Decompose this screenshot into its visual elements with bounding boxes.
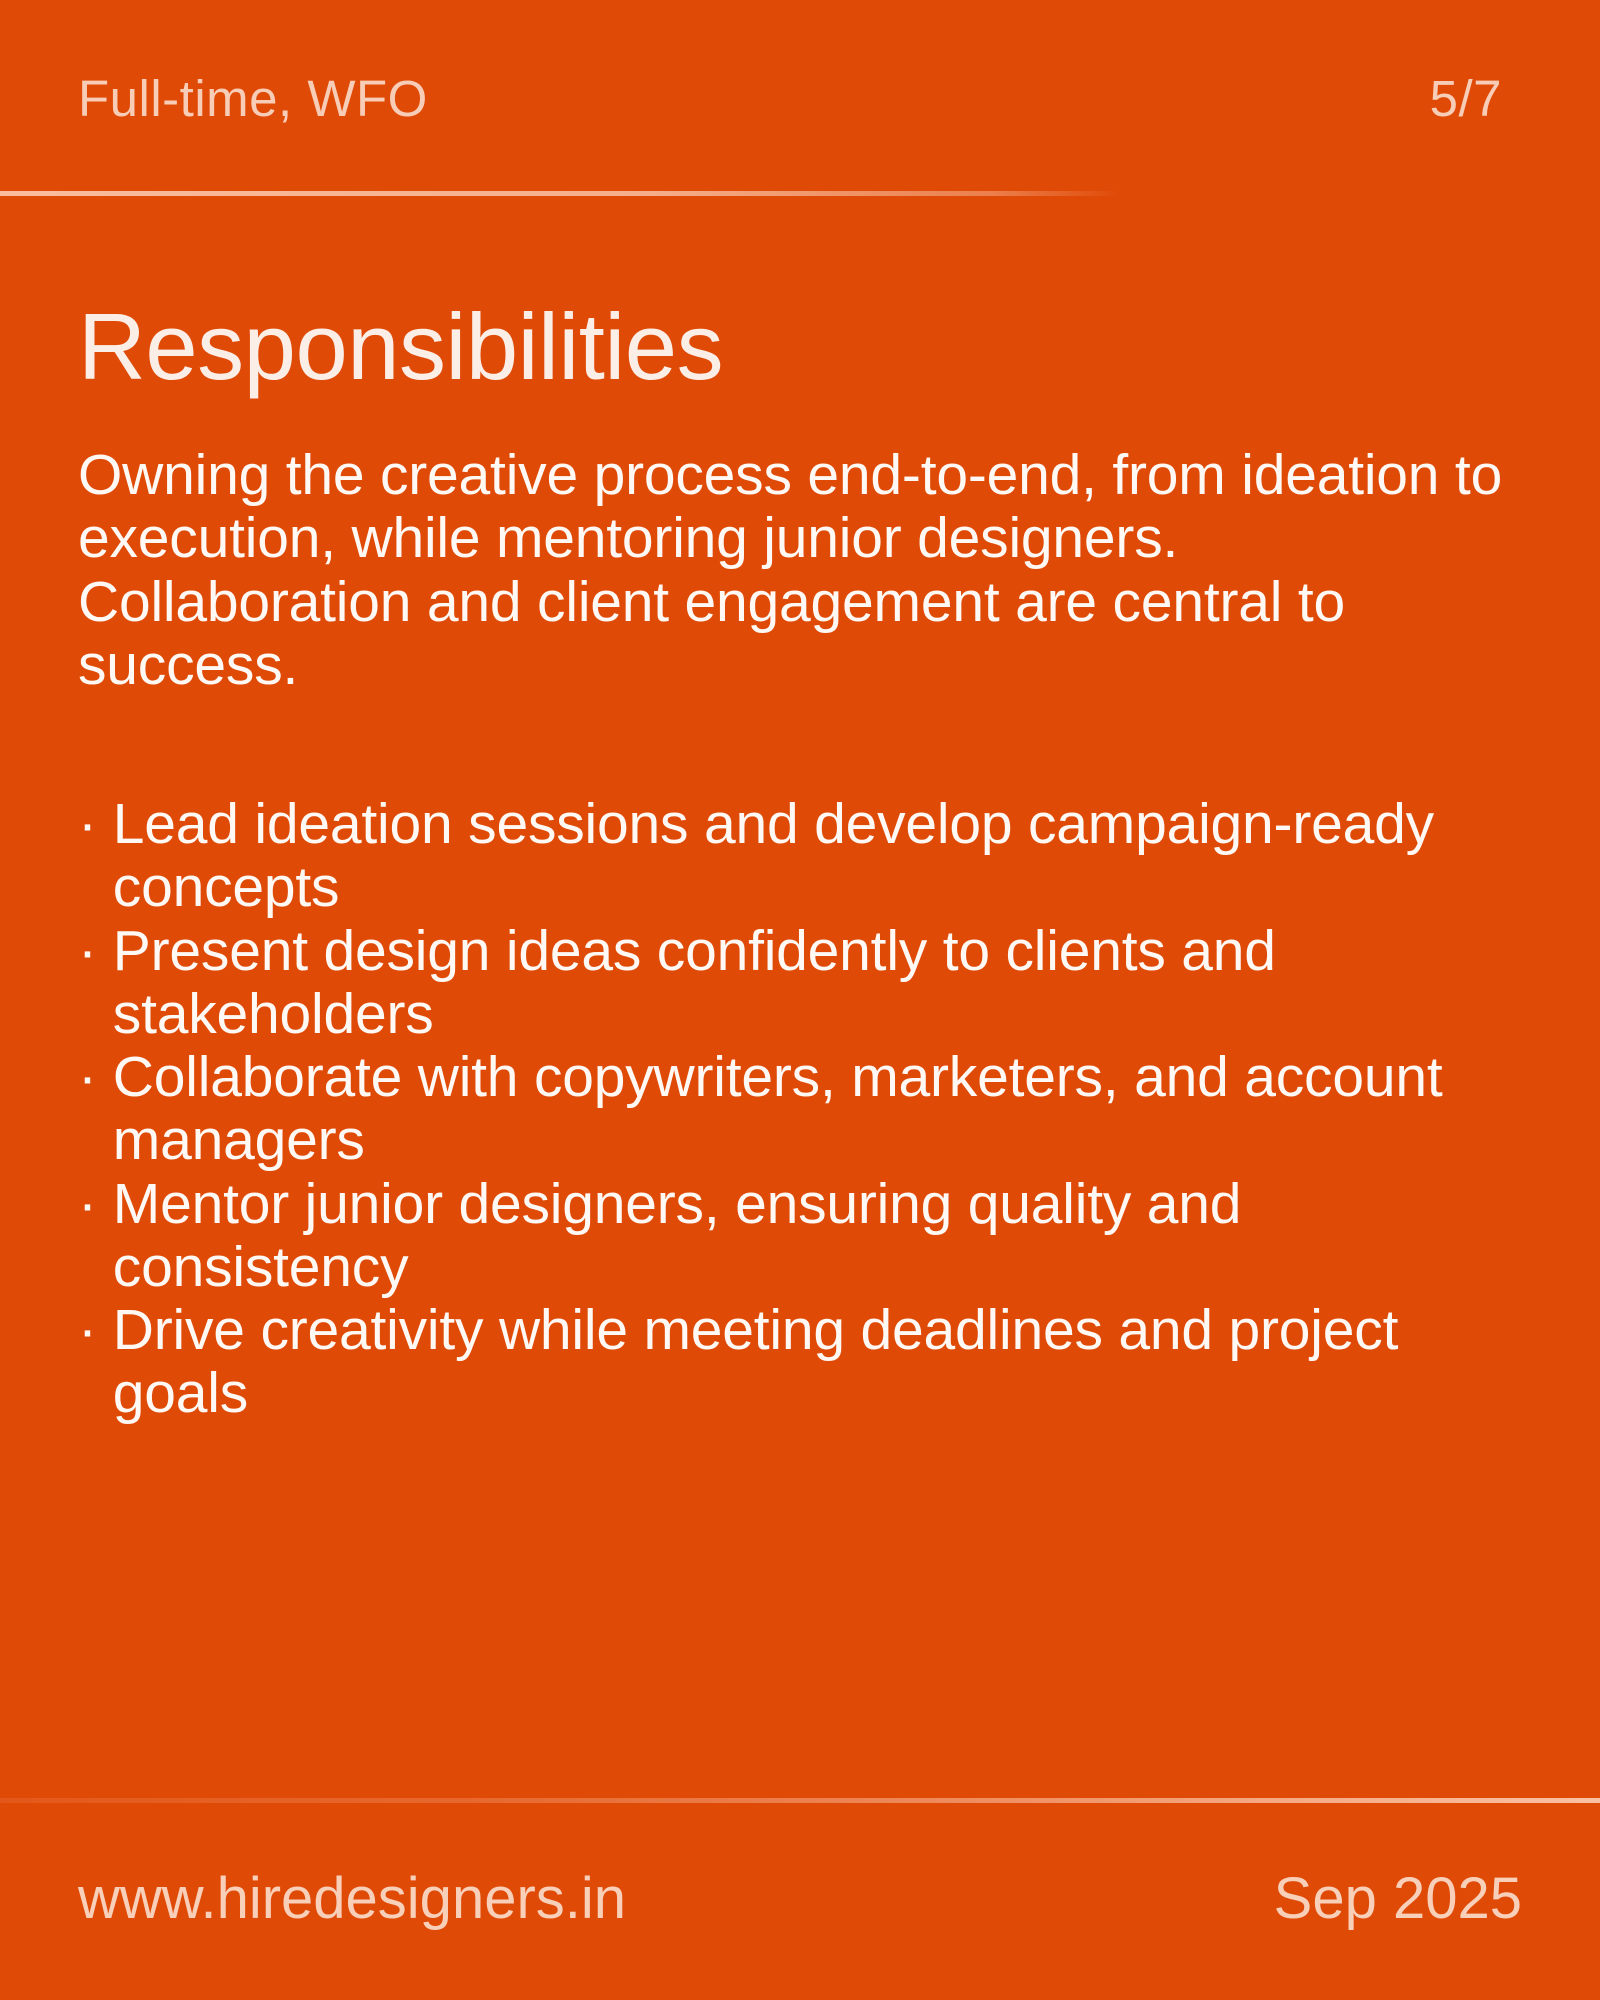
slide-footer: www.hiredesigners.in Sep 2025: [0, 1798, 1600, 2000]
list-item: ·Drive creativity while meeting deadline…: [78, 1299, 1522, 1426]
page-title: Responsibilities: [78, 300, 1522, 394]
intro-paragraph: Owning the creative process end-to-end, …: [78, 444, 1518, 697]
footer-divider: [0, 1798, 1600, 1803]
date-label: Sep 2025: [1274, 1870, 1522, 1928]
list-item-label: Lead ideation sessions and develop campa…: [113, 793, 1522, 920]
content-spacer: [78, 697, 1522, 793]
list-item: ·Mentor junior designers, ensuring quali…: [78, 1173, 1522, 1300]
bullet-dot-icon: ·: [78, 920, 97, 983]
bullet-dot-icon: ·: [78, 1299, 97, 1362]
bullet-dot-icon: ·: [78, 1173, 97, 1236]
job-card-slide: Full-time, WFO 5/7 Responsibilities Owni…: [0, 0, 1600, 2000]
slide-counter: 5/7: [1430, 73, 1522, 124]
responsibilities-list: ·Lead ideation sessions and develop camp…: [78, 793, 1522, 1426]
list-item-label: Collaborate with copywriters, marketers,…: [113, 1046, 1522, 1173]
employment-type-label: Full-time, WFO: [78, 73, 428, 124]
list-item-label: Drive creativity while meeting deadlines…: [113, 1299, 1522, 1426]
list-item: ·Lead ideation sessions and develop camp…: [78, 793, 1522, 920]
slide-header: Full-time, WFO 5/7: [0, 0, 1600, 196]
bullet-dot-icon: ·: [78, 1046, 97, 1109]
website-label[interactable]: www.hiredesigners.in: [78, 1870, 626, 1928]
slide-main-content: Responsibilities Owning the creative pro…: [0, 196, 1600, 1798]
bullet-dot-icon: ·: [78, 793, 97, 856]
list-item: ·Collaborate with copywriters, marketers…: [78, 1046, 1522, 1173]
header-divider: [0, 191, 1600, 196]
list-item: ·Present design ideas confidently to cli…: [78, 920, 1522, 1047]
list-item-label: Present design ideas confidently to clie…: [113, 920, 1522, 1047]
list-item-label: Mentor junior designers, ensuring qualit…: [113, 1173, 1522, 1300]
